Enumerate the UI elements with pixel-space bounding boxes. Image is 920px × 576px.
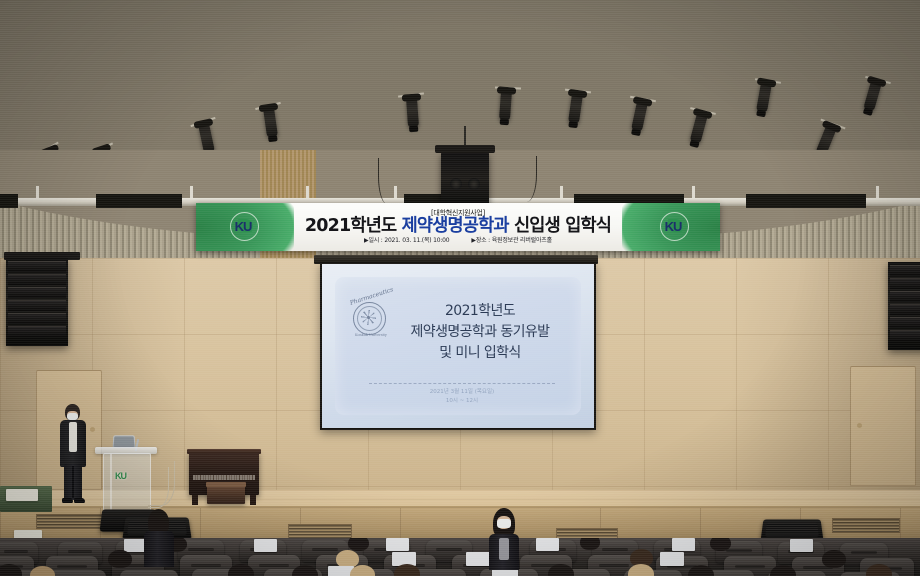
projection-screen: Pharmaceutics Konkuk University 2021학년도 … [322,264,594,428]
floor-vent-grille [36,514,108,529]
speaker-mount-cap [435,145,495,153]
seat-name-card [660,552,684,566]
presenter-shirt [69,422,77,452]
lectern-cable [148,467,169,508]
catwalk-post [692,186,695,198]
slide-title-block: 2021학년도 제약생명공학과 동기유발 및 미니 입학식 [389,301,571,364]
attendee-jacket [144,531,174,567]
logo-text: KU [235,219,252,234]
stage-presenter [58,404,88,504]
emblem-star-icon [361,310,376,325]
slide-line-1: 2021학년도 [389,301,571,322]
floor-vent-grille [288,524,352,539]
speaker-cone-icon [468,178,480,190]
piano-lid [187,449,261,454]
center-speaker-cluster [441,152,489,208]
seat-name-card [124,539,146,552]
seat-name-card [672,538,695,551]
upright-piano [189,451,259,505]
seat[interactable] [48,570,106,576]
slide-date-block: 2021년 3월 11일 (목요일) 10시 ~ 12시 [369,388,555,407]
attendee-head [108,550,132,568]
speaker-segment [890,265,920,276]
speaker-segment [890,278,920,289]
catwalk-gap [746,194,866,208]
speaker-segment [890,330,920,341]
ceremony-banner: KU KU [대학혁신지원사업] 2021학년도 제약생명공학과 신입생 입학식… [196,203,720,251]
attendee-head [350,565,375,576]
line-array-speaker-left [6,258,68,346]
piano-bench-top [206,482,246,487]
logo-text: KU [665,219,682,234]
audience-seating [0,538,920,576]
seat-name-card [386,538,409,551]
piano-leg [192,495,198,505]
slide-date-line-2: 10시 ~ 12시 [369,397,555,406]
seat-name-card [790,539,813,552]
speaker-segment [8,261,66,272]
slide-line-2: 제약생명공학과 동기유발 [389,322,571,343]
seat-name-card [254,539,277,552]
floor-vent-grille [832,518,900,533]
pharmaceutics-emblem-icon: Pharmaceutics Konkuk University [348,293,394,339]
spotlight-icon [499,91,512,122]
aisle-attendee [487,508,521,570]
presenter-shoe [62,498,73,503]
attendee-head [822,550,846,568]
lectern-logo: KU [115,471,126,481]
catwalk-post [560,186,563,198]
catwalk-post [394,186,397,198]
attendee-head [292,565,318,576]
presenter-shoe [74,498,85,503]
face-mask-icon [67,413,78,420]
speaker-segment [890,317,920,328]
aisle-attendee-secondary [144,509,174,567]
banner-date: ▶일시 : 2021. 03. 11.(목) 10:00 [364,237,449,244]
emblem-subtitle-text: Konkuk University [355,333,387,337]
face-mask-icon [497,519,511,528]
piano-leg [250,495,256,505]
speaker-segment [890,304,920,315]
attendee-head [348,538,369,551]
speaker-segment [8,274,66,285]
banner-title-year: 2021학년도 [305,216,396,236]
attendee-head [580,538,600,550]
spotlight-icon [406,98,419,129]
banner-title-department: 제약생명공학과 [402,216,509,236]
door-knob-icon [857,423,862,428]
catwalk-post [36,186,39,198]
speaker-segment [8,313,66,324]
catwalk-gap [96,194,182,208]
presentation-slide: Pharmaceutics Konkuk University 2021학년도 … [335,277,581,415]
auditorium-photo: KU KU [대학혁신지원사업] 2021학년도 제약생명공학과 신입생 입학식… [0,0,920,576]
catwalk-post [190,186,193,198]
speaker-segment [8,326,66,337]
seat-name-card [536,538,559,551]
stage-door-right[interactable] [850,366,916,486]
lectern-body [103,453,151,511]
attendee-head [710,538,731,551]
speaker-segment [8,287,66,298]
line-array-speaker-right [888,262,920,350]
catwalk-post [306,186,309,198]
catwalk-gap [0,194,18,208]
slide-line-3: 및 미니 입학식 [389,343,571,364]
banner-text-block: [대학혁신지원사업] 2021학년도 제약생명공학과 신입생 입학식 ▶일시 :… [196,203,720,251]
banner-place: ▶장소 : 육원정보관 리버럴아츠홀 [471,237,552,244]
speaker-segment [8,300,66,311]
document-sheet [6,489,38,501]
catwalk-post [876,186,879,198]
speaker-segment [890,291,920,302]
lectern: KU [96,437,156,509]
slide-divider [369,383,555,385]
banner-title-event: 신입생 입학식 [514,216,611,236]
presenter-leg-split [72,466,74,498]
piano-bench [207,484,245,504]
banner-subline: ▶일시 : 2021. 03. 11.(목) 10:00▶장소 : 육원정보관 … [305,238,611,244]
slide-date-line-1: 2021년 3월 11일 (목요일) [369,388,555,397]
laptop-screen [114,436,135,447]
speaker-grille [765,523,819,537]
seat[interactable] [120,570,178,576]
attendee-shirt [499,538,509,560]
banner-title: 2021학년도 제약생명공학과 신입생 입학식 [305,218,611,236]
hanging-cable [378,158,393,204]
projection-screen-frame: Pharmaceutics Konkuk University 2021학년도 … [320,262,596,430]
door-knob-icon [90,427,95,432]
piano-keys [193,475,255,480]
attendee-head [688,565,714,576]
attendee-head [628,564,654,576]
speaker-cone-icon [450,178,462,190]
